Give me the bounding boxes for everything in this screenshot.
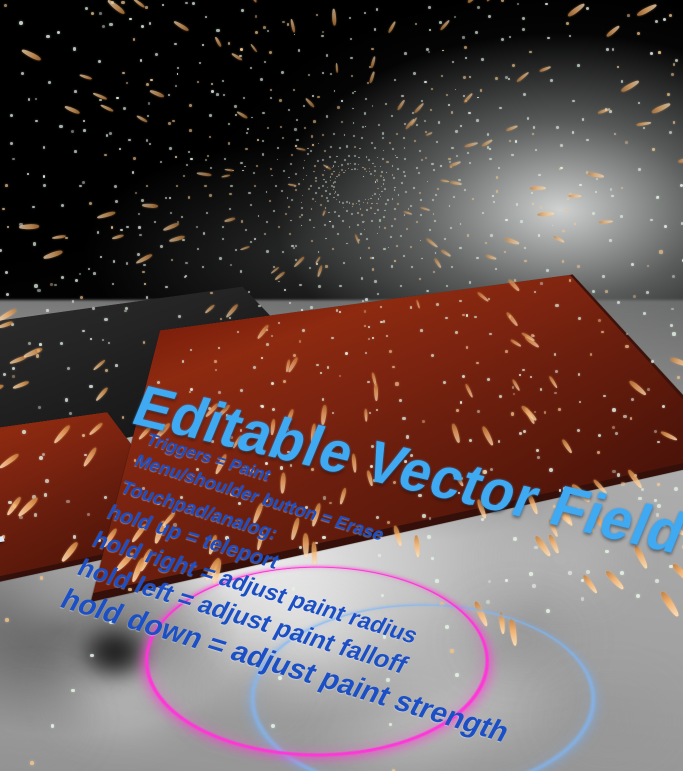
field-dot: [382, 137, 384, 139]
field-dot: [315, 201, 316, 202]
field-dot: [658, 51, 661, 54]
field-dot: [88, 268, 91, 271]
field-dot: [651, 360, 654, 363]
field-dot: [250, 204, 252, 206]
field-dot: [382, 132, 384, 134]
field-dot: [396, 133, 398, 135]
field-dot: [224, 158, 226, 160]
field-arrow: [92, 359, 105, 371]
field-dot: [358, 200, 360, 202]
field-dot: [558, 408, 561, 411]
field-dot: [602, 275, 605, 278]
field-dot: [495, 268, 497, 270]
field-dot: [250, 67, 252, 69]
field-dot: [312, 95, 314, 97]
field-dot: [350, 57, 352, 59]
field-dot: [488, 580, 491, 583]
field-dot: [112, 283, 115, 286]
field-dot: [469, 162, 471, 164]
field-dot: [330, 146, 332, 148]
field-dot: [609, 239, 612, 242]
field-dot: [211, 90, 214, 93]
field-dot: [358, 164, 359, 165]
field-dot: [222, 238, 224, 240]
field-dot: [262, 153, 264, 155]
field-dot: [162, 4, 164, 6]
field-dot: [82, 434, 85, 437]
field-dot: [126, 82, 129, 85]
field-dot: [659, 250, 662, 253]
field-dot: [228, 123, 230, 125]
field-dot: [255, 15, 258, 18]
field-dot: [199, 62, 201, 64]
field-dot: [308, 74, 310, 76]
field-dot: [10, 142, 13, 145]
field-dot: [265, 499, 268, 502]
field-dot: [341, 169, 343, 171]
field-dot: [142, 271, 145, 274]
field-arrow: [168, 235, 184, 243]
field-dot: [5, 184, 8, 187]
field-dot: [671, 73, 674, 76]
field-dot: [330, 176, 331, 177]
field-dot: [394, 260, 396, 262]
field-dot: [145, 6, 148, 9]
field-dot: [445, 317, 448, 320]
field-dot: [536, 449, 539, 452]
field-arrow: [539, 65, 551, 72]
field-dot: [586, 570, 590, 574]
field-dot: [408, 208, 410, 210]
field-arrow: [0, 383, 4, 395]
field-dot: [87, 513, 90, 516]
field-dot: [323, 496, 327, 500]
field-dot: [437, 188, 439, 190]
field-dot: [565, 209, 568, 212]
field-dot: [90, 654, 93, 657]
field-dot: [90, 338, 92, 340]
field-dot: [485, 242, 487, 244]
field-dot: [505, 350, 508, 353]
field-dot: [505, 579, 508, 582]
field-dot: [620, 215, 623, 218]
field-dot: [376, 409, 379, 412]
field-dot: [291, 154, 293, 156]
field-dot: [34, 284, 38, 288]
field-dot: [420, 329, 423, 332]
field-arrow: [636, 121, 651, 126]
field-dot: [288, 109, 290, 111]
field-dot: [363, 202, 365, 204]
field-dot: [612, 426, 615, 429]
field-dot: [574, 223, 576, 225]
field-arrow: [669, 356, 683, 367]
field-dot: [511, 154, 514, 157]
field-arrow: [477, 499, 488, 519]
field-dot: [452, 61, 454, 63]
field-dot: [320, 372, 322, 374]
field-dot: [401, 95, 404, 98]
field-dot: [254, 185, 256, 187]
field-dot: [185, 262, 188, 265]
field-dot: [321, 195, 323, 197]
field-dot: [266, 250, 269, 253]
field-dot: [450, 227, 452, 229]
field-dot: [314, 165, 316, 167]
field-dot: [368, 159, 370, 161]
field-dot: [282, 137, 284, 139]
field-dot: [258, 215, 260, 217]
field-dot: [605, 290, 608, 293]
field-dot: [44, 493, 47, 496]
field-dot: [82, 330, 85, 333]
field-dot: [324, 170, 326, 172]
field-dot: [451, 111, 453, 113]
field-dot: [316, 432, 319, 435]
field-dot: [282, 21, 285, 24]
field-arrow: [339, 488, 347, 506]
field-dot: [377, 188, 379, 190]
field-dot: [383, 177, 385, 179]
field-dot: [315, 177, 317, 179]
field-dot: [330, 73, 332, 75]
field-dot: [6, 293, 9, 296]
field-dot: [598, 319, 601, 322]
field-dot: [143, 264, 146, 267]
field-dot: [421, 258, 423, 260]
field-dot: [34, 513, 37, 516]
field-dot: [250, 241, 252, 243]
field-dot: [368, 338, 370, 340]
field-dot: [325, 207, 326, 208]
field-dot: [458, 179, 460, 181]
field-dot: [431, 354, 434, 357]
field-dot: [374, 280, 377, 283]
field-dot: [301, 202, 303, 204]
field-dot: [533, 335, 535, 337]
field-dot: [115, 516, 118, 519]
field-dot: [372, 337, 374, 339]
field-dot: [202, 266, 204, 268]
field-dot: [186, 164, 189, 167]
field-dot: [357, 212, 359, 214]
field-dot: [296, 139, 298, 141]
field-dot: [592, 290, 595, 293]
field-dot: [384, 227, 386, 229]
field-dot: [387, 199, 389, 201]
field-dot: [427, 535, 431, 539]
field-dot: [267, 127, 269, 129]
field-dot: [273, 210, 275, 212]
field-arrow: [476, 291, 489, 302]
field-dot: [109, 23, 112, 26]
field-dot: [175, 156, 177, 158]
field-dot: [169, 147, 172, 150]
field-dot: [385, 203, 387, 205]
field-dot: [258, 305, 261, 308]
field-dot: [435, 252, 437, 254]
field-dot: [325, 190, 326, 191]
field-dot: [178, 315, 181, 318]
field-arrow: [413, 535, 420, 558]
field-arrow: [315, 256, 321, 264]
field-dot: [404, 158, 406, 160]
field-arrow: [464, 384, 473, 399]
field-arrow: [632, 544, 648, 569]
field-dot: [218, 391, 221, 394]
field-dot: [392, 366, 395, 369]
field-dot: [339, 147, 341, 149]
field-dot: [315, 192, 317, 194]
field-arrow: [516, 72, 529, 84]
field-dot: [143, 341, 146, 344]
field-dot: [342, 202, 344, 204]
field-dot: [235, 114, 237, 116]
field-arrow: [224, 169, 233, 172]
field-dot: [281, 71, 284, 74]
field-dot: [317, 96, 320, 99]
field-dot: [522, 369, 525, 372]
field-dot: [380, 306, 382, 308]
field-dot: [243, 97, 245, 99]
field-dot: [374, 170, 376, 172]
field-dot: [523, 93, 526, 96]
field-dot: [455, 331, 458, 334]
field-dot: [567, 198, 569, 200]
vr-scene-viewport[interactable]: Editable Vector Field dited Triggers = P…: [0, 0, 683, 771]
field-dot: [271, 382, 274, 385]
field-dot: [489, 158, 492, 161]
field-dot: [429, 29, 431, 31]
field-dot: [386, 335, 389, 338]
field-dot: [620, 571, 624, 575]
field-dot: [577, 429, 580, 432]
field-dot: [504, 251, 506, 253]
field-dot: [215, 369, 217, 371]
field-arrow: [95, 386, 109, 402]
field-dot: [330, 180, 331, 181]
field-dot: [657, 196, 659, 198]
field-dot: [612, 48, 615, 51]
field-dot: [654, 430, 657, 433]
field-dot: [493, 201, 495, 203]
field-dot: [537, 456, 540, 459]
field-dot: [532, 584, 536, 588]
field-dot: [377, 209, 379, 211]
field-dot: [301, 225, 302, 226]
field-arrow: [285, 409, 294, 425]
field-arrow: [79, 74, 93, 81]
field-dot: [293, 89, 295, 91]
field-dot: [251, 117, 253, 119]
field-arrow: [538, 211, 555, 216]
field-dot: [670, 324, 673, 327]
field-arrow: [425, 237, 438, 248]
field-dot: [514, 279, 517, 282]
field-arrow: [256, 531, 265, 550]
field-arrow: [659, 590, 680, 618]
field-dot: [190, 388, 193, 391]
field-dot: [359, 204, 361, 206]
field-dot: [404, 123, 406, 125]
field-arrow: [21, 48, 41, 61]
field-dot: [446, 94, 448, 96]
field-dot: [240, 162, 242, 164]
field-dot: [377, 157, 378, 158]
field-dot: [32, 206, 35, 209]
field-dot: [177, 73, 179, 75]
field-dot: [556, 126, 559, 129]
field-dot: [674, 487, 678, 491]
field-dot: [180, 496, 183, 499]
field-dot: [369, 412, 371, 414]
field-arrow: [511, 338, 522, 346]
field-dot: [401, 182, 403, 184]
field-dot: [357, 169, 358, 170]
field-arrow: [366, 469, 374, 486]
field-dot: [431, 557, 434, 560]
field-arrow: [660, 430, 678, 441]
field-dot: [368, 326, 370, 328]
field-dot: [160, 161, 162, 163]
field-dot: [420, 240, 422, 242]
field-dot: [366, 171, 367, 172]
field-dot: [141, 199, 144, 202]
field-dot: [324, 224, 326, 226]
field-dot: [508, 78, 511, 81]
field-dot: [205, 159, 207, 161]
field-dot: [404, 460, 407, 463]
field-dot: [28, 342, 31, 345]
field-dot: [578, 317, 581, 320]
field-dot: [381, 191, 383, 193]
field-dot: [577, 512, 580, 515]
field-dot: [467, 152, 469, 154]
field-dot: [202, 44, 205, 47]
field-dot: [262, 112, 264, 114]
field-dot: [381, 171, 383, 173]
field-dot: [436, 141, 438, 143]
field-dot: [650, 52, 653, 55]
field-dot: [189, 129, 192, 132]
field-dot: [393, 481, 396, 484]
field-dot: [625, 345, 628, 348]
field-arrow: [309, 423, 316, 442]
field-dot: [378, 124, 380, 126]
field-dot: [391, 265, 393, 267]
field-dot: [377, 293, 379, 295]
field-dot: [609, 110, 612, 113]
field-dot: [108, 342, 111, 345]
field-dot: [223, 94, 226, 97]
field-dot: [150, 79, 152, 81]
field-dot: [361, 137, 363, 139]
field-dot: [364, 112, 367, 115]
field-dot: [533, 126, 536, 129]
field-dot: [126, 262, 129, 265]
field-dot: [646, 291, 649, 294]
field-arrow: [463, 142, 478, 149]
field-dot: [128, 588, 132, 592]
field-arrow: [581, 574, 598, 595]
field-dot: [380, 196, 381, 197]
field-dot: [524, 247, 526, 249]
field-dot: [354, 146, 356, 148]
field-dot: [46, 35, 50, 39]
field-dot: [289, 233, 291, 235]
field-dot: [586, 7, 589, 10]
field-dot: [267, 30, 269, 32]
field-dot: [229, 208, 231, 210]
field-dot: [476, 119, 479, 122]
field-dot: [422, 514, 426, 518]
field-dot: [346, 210, 348, 212]
field-dot: [65, 398, 69, 402]
field-dot: [146, 185, 148, 187]
field-dot: [254, 238, 256, 240]
field-dot: [336, 199, 337, 200]
field-dot: [142, 487, 145, 490]
field-dot: [290, 163, 292, 165]
field-dot: [673, 63, 676, 66]
field-dot: [185, 2, 187, 4]
field-dot: [382, 158, 384, 160]
field-dot: [333, 133, 335, 135]
field-dot: [420, 199, 422, 201]
field-dot: [425, 157, 427, 159]
field-dot: [316, 14, 318, 16]
field-dot: [388, 247, 389, 248]
field-dot: [519, 374, 522, 377]
field-dot: [335, 191, 337, 193]
field-dot: [424, 120, 426, 122]
field-dot: [444, 238, 446, 240]
field-dot: [383, 183, 385, 185]
field-dot: [513, 537, 517, 541]
field-dot: [334, 211, 336, 213]
field-dot: [489, 148, 491, 150]
field-dot: [348, 155, 350, 157]
field-dot: [287, 197, 289, 199]
field-dot: [488, 298, 490, 300]
field-dot: [669, 14, 672, 17]
field-dot: [410, 205, 412, 207]
field-dot: [83, 129, 86, 132]
field-dot: [323, 179, 325, 181]
field-dot: [439, 21, 442, 24]
field-dot: [454, 16, 456, 18]
field-dot: [299, 546, 302, 549]
field-dot: [321, 35, 324, 38]
field-dot: [338, 174, 340, 176]
field-dot: [400, 285, 402, 287]
field-dot: [392, 174, 394, 176]
field-arrow: [606, 24, 620, 37]
field-dot: [301, 309, 303, 311]
field-dot: [404, 214, 406, 216]
field-dot: [394, 218, 396, 220]
field-dot: [363, 176, 364, 177]
field-dot: [555, 370, 558, 373]
field-dot: [383, 248, 385, 250]
field-dot: [501, 38, 504, 41]
field-dot: [168, 122, 171, 125]
field-dot: [133, 157, 136, 160]
field-dot: [433, 479, 436, 482]
field-dot: [367, 202, 369, 204]
field-dot: [390, 236, 392, 238]
field-dot: [270, 168, 272, 170]
